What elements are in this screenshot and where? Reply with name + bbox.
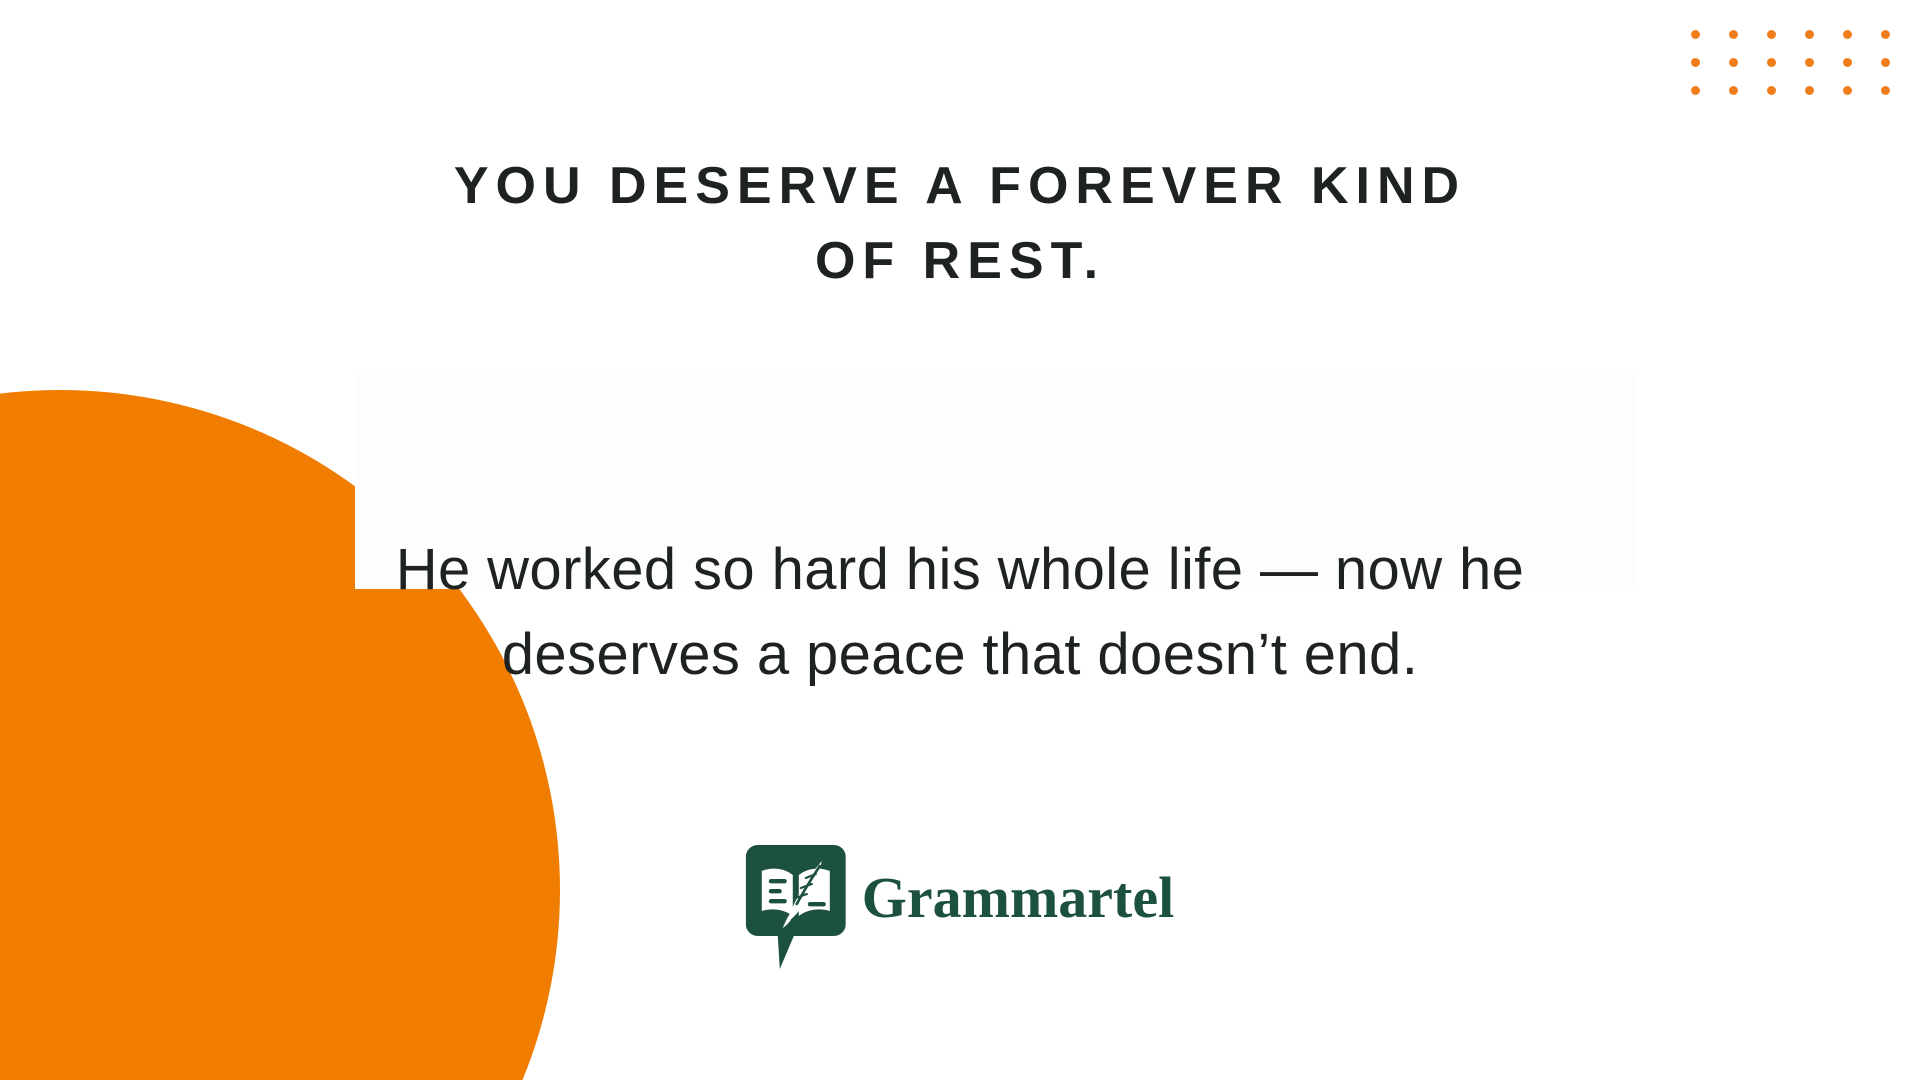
dot-icon [1881,58,1890,67]
dot-icon [1805,86,1814,95]
dot-icon [1729,30,1738,39]
dot-icon [1805,58,1814,67]
dot-icon [1691,86,1700,95]
dot-icon [1843,58,1852,67]
dot-icon [1691,58,1700,67]
orange-corner-curve-decoration [0,390,560,1080]
dot-icon [1729,86,1738,95]
quote-slide: You deserve a forever kind of rest. He w… [0,0,1920,1080]
dot-icon [1767,58,1776,67]
brand-wordmark: Grammartel [862,869,1174,947]
dot-icon [1767,30,1776,39]
book-quill-speech-bubble-icon [746,845,846,971]
dot-icon [1691,30,1700,39]
dot-icon [1881,86,1890,95]
dot-icon [1729,58,1738,67]
quote-text: He worked so hard his whole life — now h… [350,528,1570,697]
dot-grid-decoration [1676,20,1904,104]
dot-icon [1843,86,1852,95]
brand-logo-lockup: Grammartel [746,845,1174,971]
dot-icon [1843,30,1852,39]
dot-icon [1805,30,1814,39]
dot-icon [1767,86,1776,95]
dot-icon [1881,30,1890,39]
slide-headline: You deserve a forever kind of rest. [290,149,1630,300]
